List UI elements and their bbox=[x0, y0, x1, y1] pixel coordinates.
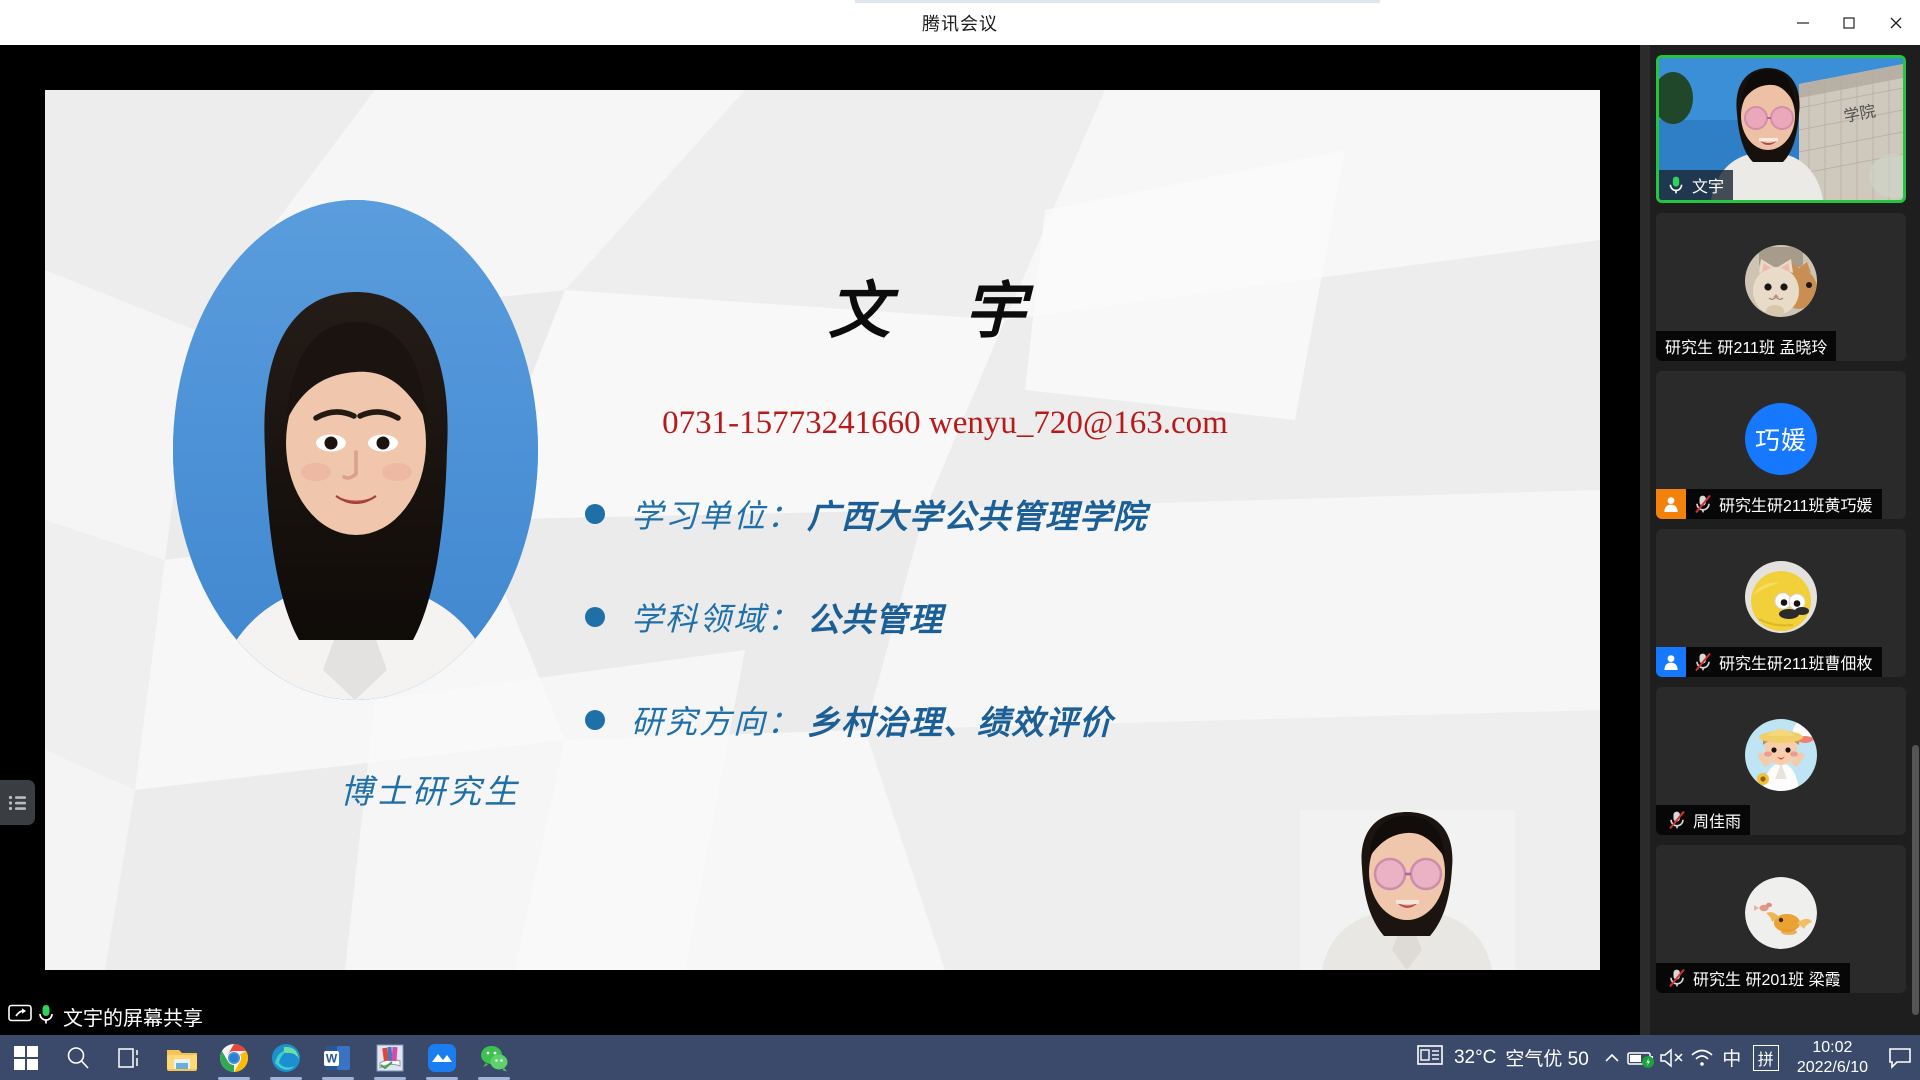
taskbar-pinned-apps: W bbox=[0, 1035, 520, 1080]
chrome[interactable] bbox=[208, 1035, 260, 1080]
bullet-dot-icon bbox=[585, 710, 605, 730]
participant-rail[interactable]: 学院 bbox=[1650, 45, 1920, 1035]
photo-caption: 博士研究生 bbox=[250, 765, 610, 813]
bullet-label: 学习单位： bbox=[631, 491, 801, 537]
clock-time: 10:02 bbox=[1797, 1038, 1868, 1058]
wechat-icon bbox=[479, 1043, 509, 1073]
wifi-icon bbox=[1689, 1048, 1715, 1068]
volume-button[interactable] bbox=[1657, 1035, 1687, 1080]
search-icon bbox=[65, 1045, 91, 1071]
weather-temperature: 32°C bbox=[1454, 1047, 1496, 1069]
microphone-muted-icon bbox=[1664, 963, 1690, 993]
participant-name: 研究生研211班曹佃枚 bbox=[1719, 650, 1873, 674]
caj-reader[interactable] bbox=[364, 1035, 416, 1080]
participant-namebar: 周佳雨 bbox=[1656, 805, 1750, 835]
network-button[interactable] bbox=[1687, 1035, 1717, 1080]
initials-avatar: 巧媛 bbox=[1745, 403, 1817, 475]
maximize-button[interactable] bbox=[1826, 0, 1872, 45]
cat-avatar-icon bbox=[1745, 245, 1817, 317]
bullet-value: 广西大学公共管理学院 bbox=[807, 490, 1147, 538]
task-view-icon bbox=[117, 1046, 143, 1070]
news-weather-icon bbox=[1417, 1044, 1445, 1072]
microphone-muted-icon bbox=[1690, 647, 1716, 677]
list-icon bbox=[8, 795, 28, 811]
bullet-dot-icon bbox=[585, 607, 605, 627]
participant-name: 研究生 研201班 梁霞 bbox=[1693, 966, 1841, 990]
search-button[interactable] bbox=[52, 1035, 104, 1080]
participant-tile[interactable]: 研究生 研211班 孟晓玲 bbox=[1656, 213, 1906, 361]
notification-center-button[interactable] bbox=[1880, 1035, 1920, 1080]
list-item: 学科领域： 公共管理 bbox=[585, 593, 1565, 641]
portrait-photo-image bbox=[173, 200, 538, 700]
chrome-icon bbox=[219, 1043, 249, 1073]
screen-share-label: 文宇的屏幕共享 bbox=[63, 1002, 203, 1031]
participant-tile[interactable]: 巧媛 研究生研211班黄巧媛 bbox=[1656, 371, 1906, 519]
close-button[interactable] bbox=[1872, 0, 1920, 45]
edge-icon bbox=[271, 1043, 301, 1073]
ime-mode-button[interactable]: 拼 bbox=[1753, 1045, 1779, 1071]
svg-text:W: W bbox=[326, 1051, 338, 1065]
bullet-label: 研究方向： bbox=[631, 697, 801, 743]
volume-muted-icon bbox=[1659, 1048, 1685, 1068]
microphone-unmuted-icon bbox=[1663, 170, 1689, 200]
collapsed-panel-handle[interactable] bbox=[0, 780, 35, 825]
notification-icon bbox=[1888, 1047, 1912, 1069]
list-item: 研究方向： 乡村治理、绩效评价 bbox=[585, 696, 1565, 744]
microphone-muted-icon bbox=[1664, 805, 1690, 835]
bird-avatar-icon bbox=[1745, 561, 1817, 633]
list-item: 学习单位： 广西大学公共管理学院 bbox=[585, 490, 1565, 538]
host-badge-orange bbox=[1656, 489, 1686, 519]
titlebar-tab-strip bbox=[855, 0, 1380, 3]
slide-title: 文 宇 bbox=[790, 260, 1090, 350]
participant-namebar: 研究生研211班曹佃枚 bbox=[1656, 647, 1882, 677]
participant-namebar: 研究生 研211班 孟晓玲 bbox=[1656, 331, 1836, 361]
participant-namebar: 研究生 研201班 梁霞 bbox=[1656, 963, 1850, 993]
participant-name: 文宇 bbox=[1692, 173, 1724, 197]
microphone-muted-icon bbox=[1690, 489, 1716, 519]
meeting-body: 博士研究生 文 宇 0731-15773241660 wenyu_720@163… bbox=[0, 45, 1920, 1035]
system-tray: 32°C 空气优 50 bbox=[1409, 1035, 1920, 1080]
presenter-video-overlay bbox=[1300, 810, 1515, 970]
windows-logo-icon bbox=[13, 1045, 39, 1071]
participant-tile[interactable]: 研究生研211班曹佃枚 bbox=[1656, 529, 1906, 677]
weather-air-quality: 空气优 50 bbox=[1505, 1044, 1588, 1071]
tencent-meeting[interactable] bbox=[416, 1035, 468, 1080]
screen-share-icon bbox=[8, 1004, 32, 1029]
goldfish-avatar-icon bbox=[1745, 877, 1817, 949]
window-controls bbox=[1780, 0, 1920, 45]
presentation-slide: 博士研究生 文 宇 0731-15773241660 wenyu_720@163… bbox=[45, 90, 1600, 970]
window-titlebar: 腾讯会议 bbox=[0, 0, 1920, 45]
participant-tile[interactable]: 研究生 研201班 梁霞 bbox=[1656, 845, 1906, 993]
tray-overflow-button[interactable] bbox=[1597, 1035, 1627, 1080]
shared-screen-region: 博士研究生 文 宇 0731-15773241660 wenyu_720@163… bbox=[0, 45, 1650, 1035]
book-reader-icon bbox=[375, 1043, 405, 1073]
battery-status[interactable] bbox=[1627, 1035, 1657, 1080]
minimize-button[interactable] bbox=[1780, 0, 1826, 45]
ime-language-label: 中 bbox=[1722, 1044, 1741, 1071]
weather-widget[interactable]: 32°C 空气优 50 bbox=[1409, 1044, 1597, 1072]
word[interactable]: W bbox=[312, 1035, 364, 1080]
chevron-up-icon bbox=[1604, 1052, 1620, 1064]
word-icon: W bbox=[323, 1043, 353, 1073]
task-view-button[interactable] bbox=[104, 1035, 156, 1080]
girl-cartoon-avatar-icon bbox=[1745, 719, 1817, 791]
slide-bullet-list: 学习单位： 广西大学公共管理学院 学科领域： 公共管理 研究方向： 乡村治理、绩… bbox=[585, 490, 1565, 799]
participant-tile[interactable]: 周佳雨 bbox=[1656, 687, 1906, 835]
battery-charging-icon bbox=[1627, 1048, 1657, 1068]
participant-tile[interactable]: 学院 bbox=[1656, 55, 1906, 203]
portrait-photo bbox=[173, 200, 538, 700]
bullet-value: 乡村治理、绩效评价 bbox=[807, 696, 1113, 744]
bullet-label: 学科领域： bbox=[631, 594, 801, 640]
taskbar-clock[interactable]: 10:02 2022/6/10 bbox=[1785, 1038, 1880, 1078]
participant-name: 研究生 研211班 孟晓玲 bbox=[1665, 334, 1827, 358]
clock-date: 2022/6/10 bbox=[1797, 1058, 1868, 1078]
participant-rail-scrollbar[interactable] bbox=[1912, 745, 1919, 1015]
tencent-meeting-icon bbox=[427, 1043, 457, 1073]
window-title: 腾讯会议 bbox=[922, 10, 998, 36]
slide-contact-line: 0731-15773241660 wenyu_720@163.com bbox=[565, 405, 1325, 442]
windows-taskbar[interactable]: W bbox=[0, 1035, 1920, 1080]
microphone-unmuted-icon bbox=[37, 1003, 55, 1030]
ime-mode-label: 拼 bbox=[1758, 1046, 1774, 1070]
wechat[interactable] bbox=[468, 1035, 520, 1080]
participant-namebar: 研究生研211班黄巧媛 bbox=[1656, 489, 1882, 519]
host-badge-blue bbox=[1656, 647, 1686, 677]
screen-share-status-bar: 文宇的屏幕共享 bbox=[0, 997, 1640, 1035]
participant-name: 周佳雨 bbox=[1693, 808, 1741, 832]
avatar-initials: 巧媛 bbox=[1755, 421, 1807, 457]
start-button[interactable] bbox=[0, 1035, 52, 1080]
file-explorer[interactable] bbox=[156, 1035, 208, 1080]
bullet-dot-icon bbox=[585, 504, 605, 524]
edge[interactable] bbox=[260, 1035, 312, 1080]
participant-namebar: 文宇 bbox=[1659, 170, 1733, 200]
participant-name: 研究生研211班黄巧媛 bbox=[1719, 492, 1873, 516]
folder-icon bbox=[166, 1044, 198, 1072]
ime-language-button[interactable]: 中 bbox=[1717, 1035, 1747, 1080]
shared-screen-stage: 博士研究生 文 宇 0731-15773241660 wenyu_720@163… bbox=[0, 45, 1640, 997]
bullet-value: 公共管理 bbox=[807, 593, 943, 641]
